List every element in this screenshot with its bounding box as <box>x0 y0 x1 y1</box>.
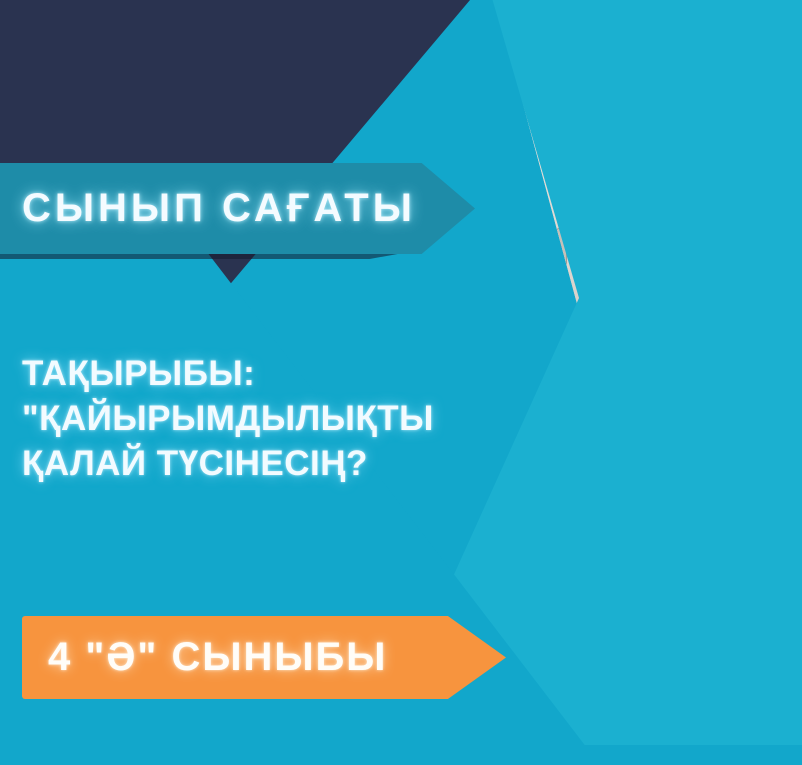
paper-green <box>430 494 474 516</box>
student-head <box>427 277 470 349</box>
wall-socket <box>483 120 494 130</box>
page-title: СЫНЫП САҒАТЫ <box>22 186 416 231</box>
bottom-teal-strip <box>0 745 802 765</box>
student-head <box>440 247 473 300</box>
slide-canvas: қырым жат <box>0 0 802 765</box>
class-banner: 4 "Ә" СЫНЫБЫ <box>22 616 506 699</box>
subject-line-2: "ҚАЙЫРЫМДЫЛЫҚТЫ <box>22 397 462 442</box>
student <box>430 247 483 367</box>
subject-block: ТАҚЫРЫБЫ: "ҚАЙЫРЫМДЫЛЫҚТЫ ҚАЛАЙ ТҮСІНЕСІ… <box>22 352 462 486</box>
subject-line-1: ТАҚЫРЫБЫ: <box>22 352 462 397</box>
student-uniform <box>503 278 556 367</box>
title-banner: СЫНЫП САҒАТЫ <box>0 163 475 254</box>
wall-socket <box>507 116 518 126</box>
subject-line-3: ҚАЛАЙ ТҮСІНЕСІҢ? <box>22 442 462 487</box>
student-head <box>513 232 546 288</box>
student <box>503 232 556 359</box>
class-label: 4 "Ә" СЫНЫБЫ <box>48 635 387 680</box>
